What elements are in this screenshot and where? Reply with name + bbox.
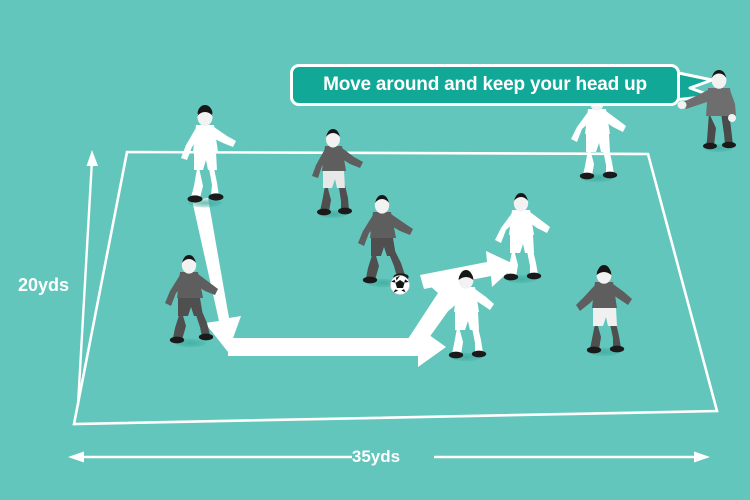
player-dark-with-ball (358, 195, 413, 287)
player-dark-upper-middle (312, 129, 363, 218)
player-dark-bottom-right (576, 265, 632, 356)
coach-speech-bubble: Move around and keep your head up (290, 64, 680, 106)
pitch-width-label: 35yds (352, 447, 400, 467)
movement-arrow-1 (192, 198, 241, 352)
coach-instruction-text: Move around and keep your head up (323, 74, 647, 96)
drill-diagram: Move around and keep your head up 20yds … (0, 0, 750, 500)
height-dimension-arrow (78, 150, 98, 405)
soccer-ball (391, 276, 410, 295)
player-white-top-left (181, 105, 236, 208)
pitch-height-label: 20yds (18, 275, 69, 296)
